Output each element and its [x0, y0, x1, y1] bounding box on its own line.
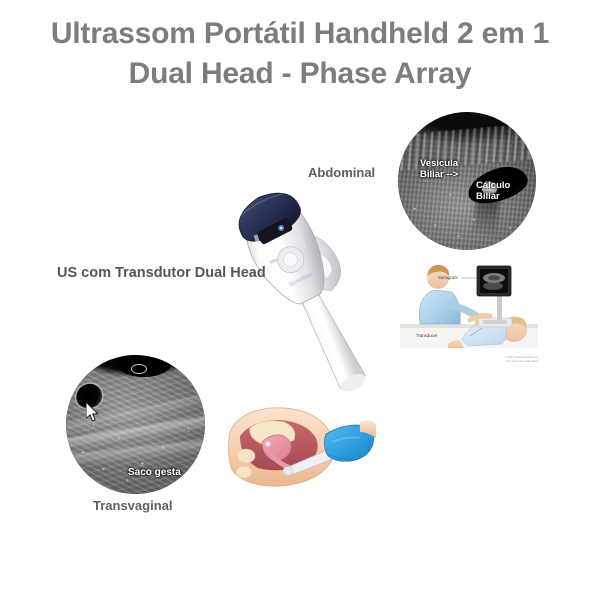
machine-arm — [497, 294, 502, 320]
abdominal-ultrasound-image: Vesícula Biliar --> Cálculo Biliar — [398, 112, 536, 250]
label-transvaginal: Transvaginal — [93, 498, 172, 513]
title-line-1: Ultrassom Portátil Handheld 2 em 1 — [0, 14, 600, 54]
illustration-label-transducer: Transducer — [416, 333, 438, 338]
abdominal-annotation-calculo: Cálculo Biliar — [476, 180, 510, 202]
probe-tip — [283, 467, 293, 476]
illustration-credit: © 2011 Terese Winslow LLC U.S. Govt. has… — [505, 356, 538, 363]
transvaginal-annotation-saco: Saco gesta — [128, 467, 181, 478]
mouse-pointer — [86, 402, 100, 423]
illustration-label-sonogram: Sonogram — [438, 275, 458, 280]
transvaginal-ultrasound-image: Saco gesta — [66, 355, 205, 494]
gestational-marker — [266, 442, 271, 447]
dual-head-handheld-ultrasound-probe: SonoStar — [196, 178, 416, 403]
label-transducer: US com Transdutor Dual Head — [57, 265, 266, 281]
page-title: Ultrassom Portátil Handheld 2 em 1 Dual … — [0, 14, 600, 94]
transvaginal-procedure-illustration — [228, 398, 376, 494]
transvaginal-scan-inner: Saco gesta — [66, 355, 205, 494]
ultrasound-machine — [477, 266, 512, 327]
pubic-bone — [237, 449, 255, 463]
abdominal-scan-inner: Vesícula Biliar --> Cálculo Biliar — [398, 112, 536, 250]
pediatric-ultrasound-illustration: Sonogram Transducer © 2011 Terese Winslo… — [398, 252, 540, 364]
product-image-canvas: Ultrassom Portátil Handheld 2 em 1 Dual … — [0, 0, 600, 600]
abdominal-annotation-vesicula: Vesícula Biliar --> — [420, 158, 458, 180]
title-line-2: Dual Head - Phase Array — [0, 54, 600, 94]
